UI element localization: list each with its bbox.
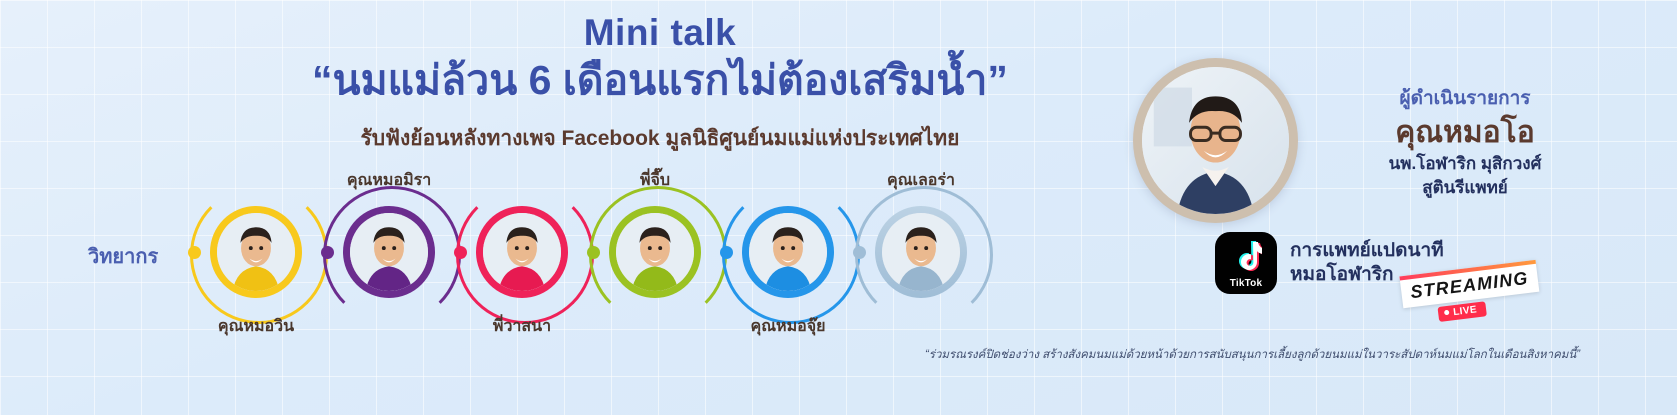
speaker-avatar[interactable]	[210, 206, 302, 298]
host-avatar	[1133, 58, 1298, 223]
footnote: “ร่วมรณรงค์ปิดช่องว่าง สร้างสังคมนมแม่ด้…	[845, 346, 1660, 364]
person-portrait-icon	[882, 213, 960, 291]
speaker-name: คุณเลอร่า	[841, 168, 1001, 193]
speaker-avatar[interactable]	[875, 206, 967, 298]
live-badge: LIVE	[1437, 301, 1486, 322]
host-nickname: คุณหมอโอ	[1300, 113, 1630, 152]
speaker-avatar[interactable]	[476, 206, 568, 298]
speakers-section-label: วิทยากร	[88, 240, 158, 272]
title-quote: “นมแม่ล้วน 6 เดือนแรกไม่ต้องเสริมน้ำ”	[250, 55, 1070, 106]
speaker-name: คุณหมอมิรา	[309, 168, 469, 193]
tiktok-icon[interactable]: TikTok	[1215, 232, 1277, 294]
host-specialty: สูตินรีแพทย์	[1300, 177, 1630, 200]
person-portrait-icon	[350, 213, 428, 291]
tiktok-note-glyph	[1236, 241, 1262, 271]
title-block: Mini talk “นมแม่ล้วน 6 เดือนแรกไม่ต้องเส…	[250, 14, 1070, 155]
speaker-photo	[483, 213, 561, 291]
live-dot-icon	[1444, 310, 1450, 316]
person-portrait-icon	[749, 213, 827, 291]
page-title: Mini talk	[250, 14, 1070, 53]
speaker-connector-dot	[853, 246, 866, 259]
person-portrait-icon	[217, 213, 295, 291]
speaker-rail: วิทยากร คุณหมอวินคุณหมอมิราพี่วาสนาพี่จี…	[0, 180, 1060, 350]
host-role: ผู้ดำเนินรายการ	[1300, 88, 1630, 111]
person-portrait-icon	[483, 213, 561, 291]
speaker-photo	[749, 213, 827, 291]
speaker-connector-dot	[587, 246, 600, 259]
host-fullname: นพ.โอฬาริก มุสิกวงศ์	[1300, 153, 1630, 176]
speaker-photo	[616, 213, 694, 291]
tiktok-label: TikTok	[1215, 278, 1277, 289]
speaker-avatar[interactable]	[742, 206, 834, 298]
speaker-avatar[interactable]	[343, 206, 435, 298]
speaker-photo	[217, 213, 295, 291]
speaker-photo	[882, 213, 960, 291]
promo-banner: Mini talk “นมแม่ล้วน 6 เดือนแรกไม่ต้องเส…	[0, 0, 1677, 415]
speaker-connector-dot	[454, 246, 467, 259]
host-portrait-icon	[1142, 67, 1289, 214]
title-subtitle: รับฟังย้อนหลังทางเพจ Facebook มูลนิธิศูน…	[250, 122, 1070, 155]
speaker-connector-dot	[188, 246, 201, 259]
live-label: LIVE	[1453, 304, 1478, 318]
channel-program-line1: การแพทย์แปดนาที	[1290, 239, 1444, 263]
speaker-avatar[interactable]	[609, 206, 701, 298]
host-info: ผู้ดำเนินรายการ คุณหมอโอ นพ.โอฬาริก มุสิ…	[1300, 88, 1630, 200]
person-portrait-icon	[616, 213, 694, 291]
speaker-photo	[350, 213, 428, 291]
speaker-connector-dot	[720, 246, 733, 259]
speaker-name: พี่จี๊บ	[575, 168, 735, 193]
speaker-name: คุณหมอจุ๊ย	[708, 314, 868, 339]
speaker-name: พี่วาสนา	[442, 314, 602, 339]
speaker-name: คุณหมอวิน	[176, 314, 336, 339]
speaker-connector-dot	[321, 246, 334, 259]
